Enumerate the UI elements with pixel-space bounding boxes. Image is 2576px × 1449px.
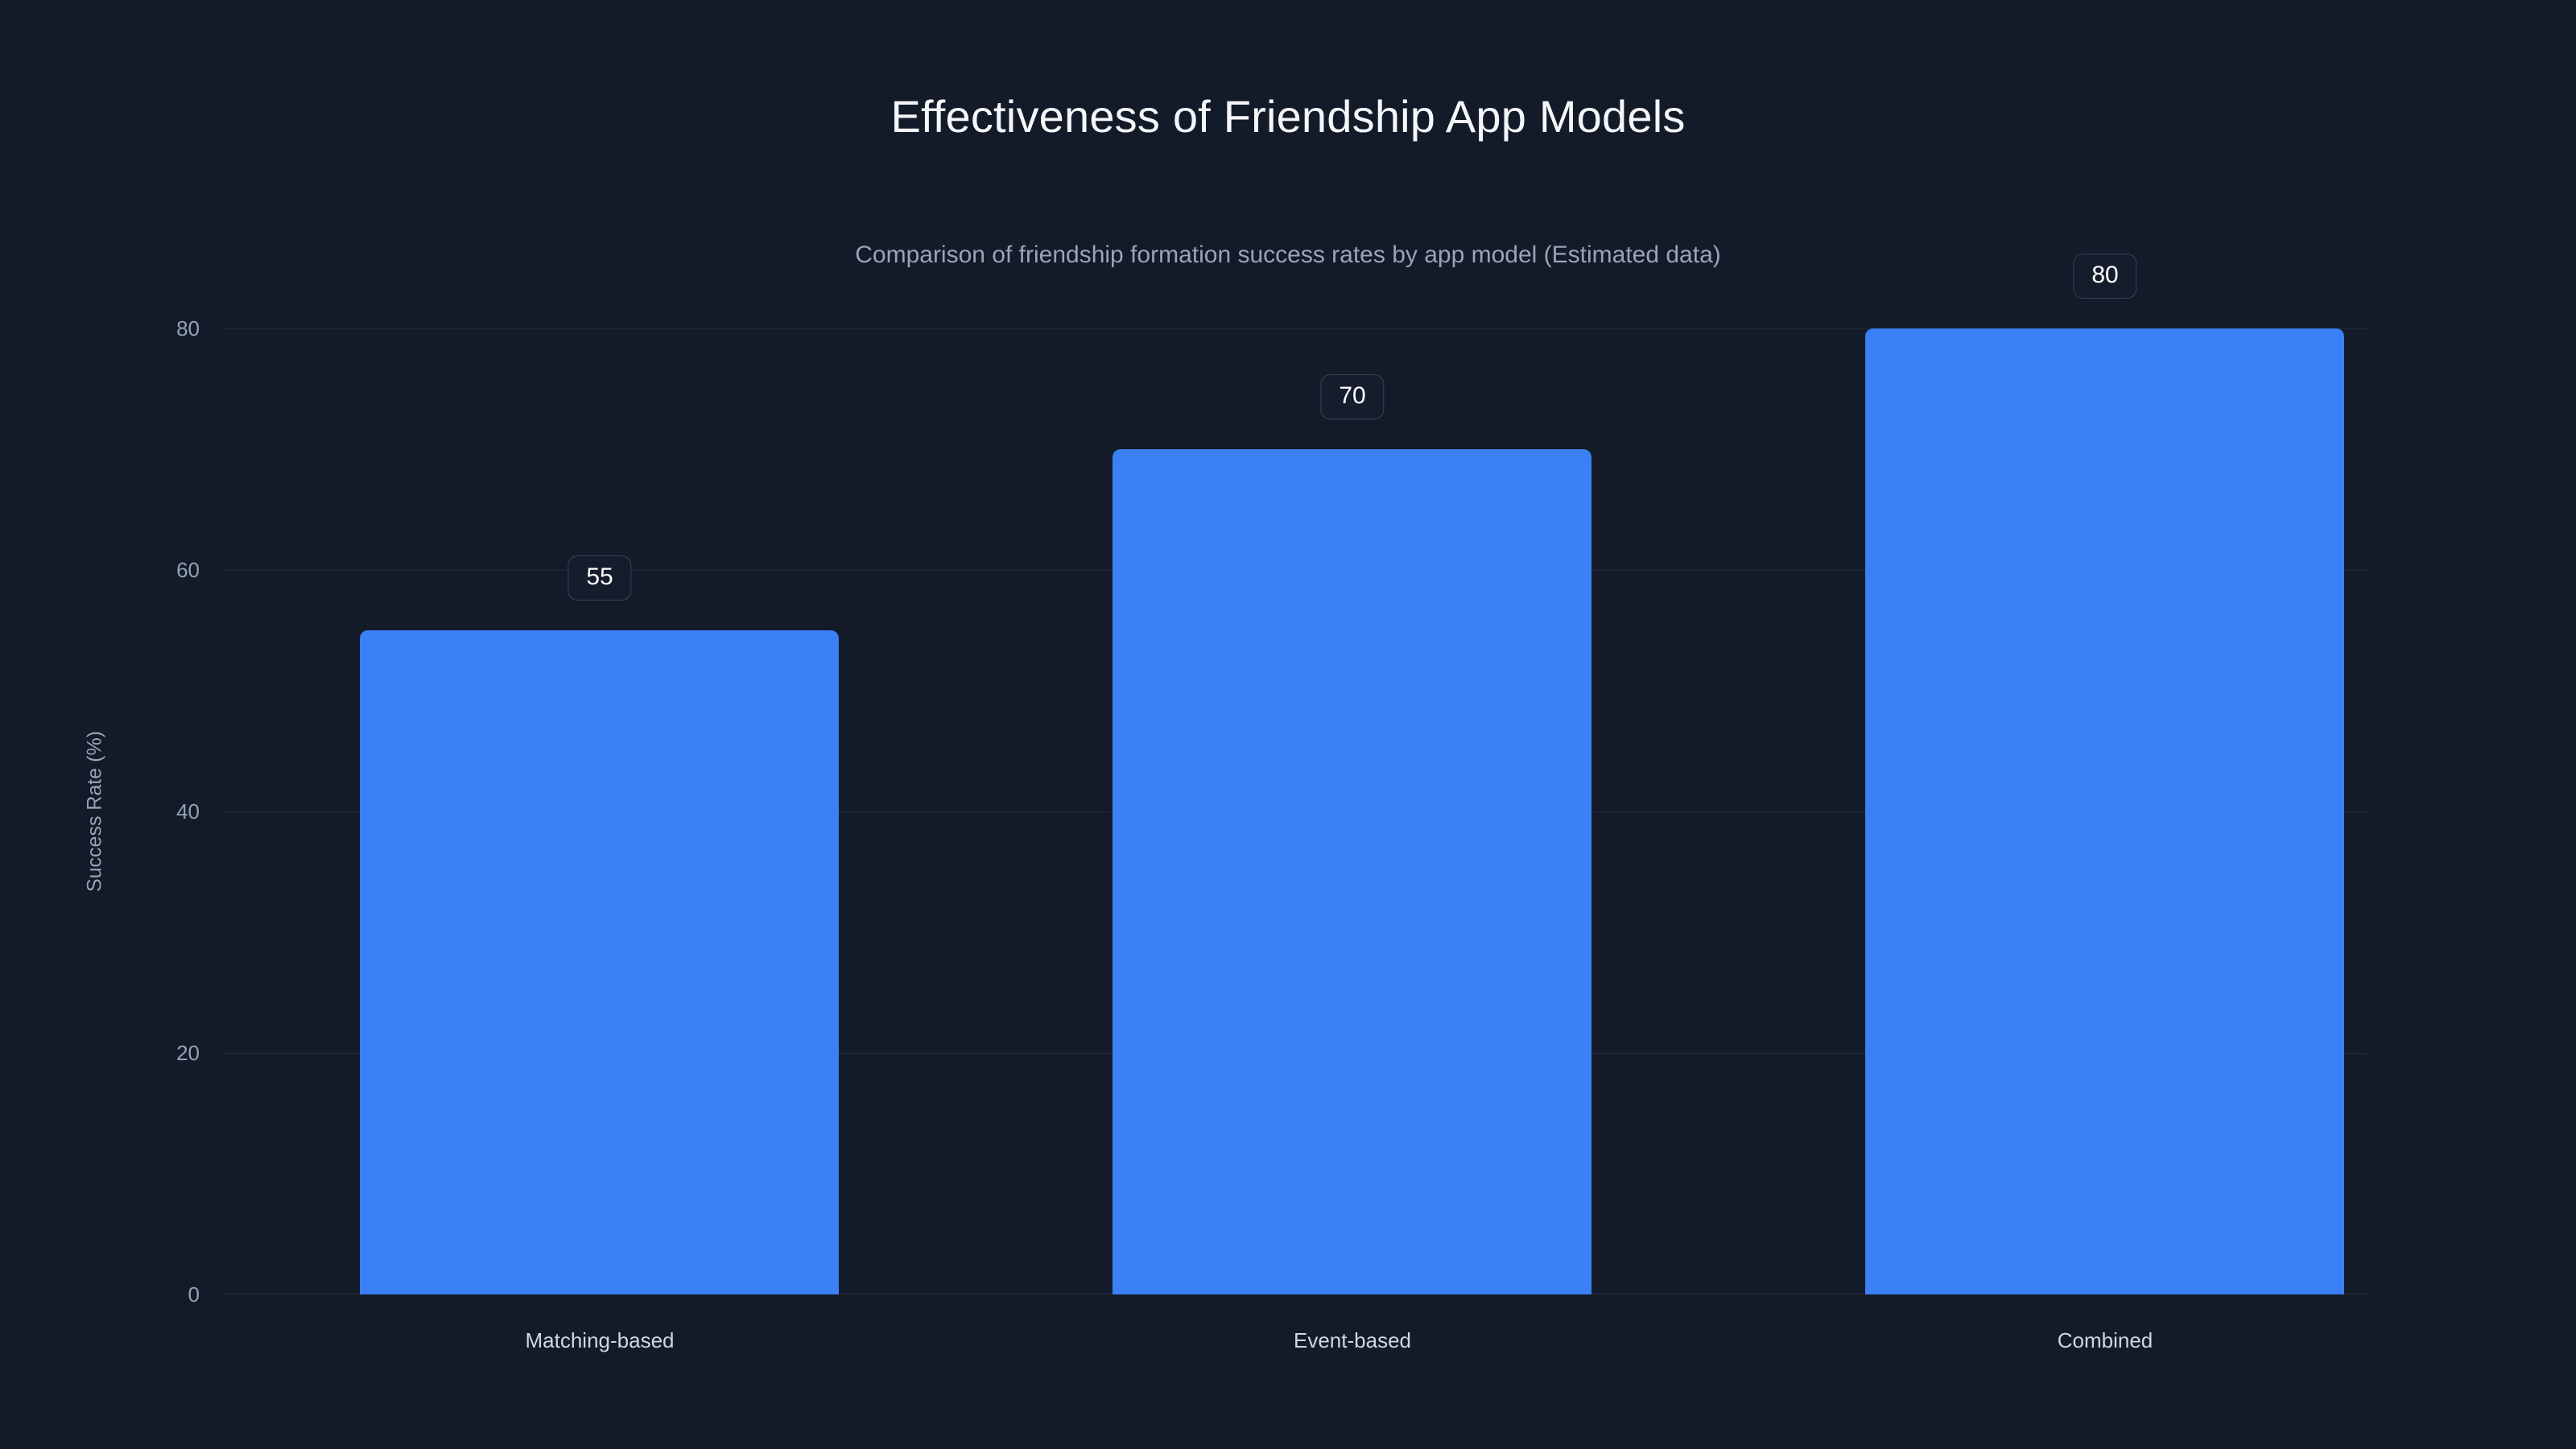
y-tick-label-40: 40 <box>103 801 200 822</box>
y-tick-label-80: 80 <box>103 318 200 339</box>
value-badge-event-based: 70 <box>1320 374 1384 419</box>
x-tick-label-matching-based: Matching-based <box>526 1328 675 1353</box>
y-tick-label-20: 20 <box>103 1042 200 1063</box>
plot-area <box>224 328 2367 1294</box>
bar-combined[interactable] <box>1865 328 2344 1294</box>
y-tick-label-60: 60 <box>103 559 200 580</box>
y-tick-label-0: 0 <box>103 1284 200 1305</box>
bar-matching-based[interactable] <box>360 630 839 1294</box>
chart-title: Effectiveness of Friendship App Models <box>0 90 2576 142</box>
bar-event-based[interactable] <box>1113 449 1591 1294</box>
chart-subtitle: Comparison of friendship formation succe… <box>0 242 2576 269</box>
x-tick-label-event-based: Event-based <box>1294 1328 1411 1353</box>
bar-chart-figure: Effectiveness of Friendship App Models C… <box>0 0 2576 1449</box>
value-badge-combined: 80 <box>2073 254 2136 299</box>
value-badge-matching-based: 55 <box>568 555 631 601</box>
x-tick-label-combined: Combined <box>2058 1328 2153 1353</box>
